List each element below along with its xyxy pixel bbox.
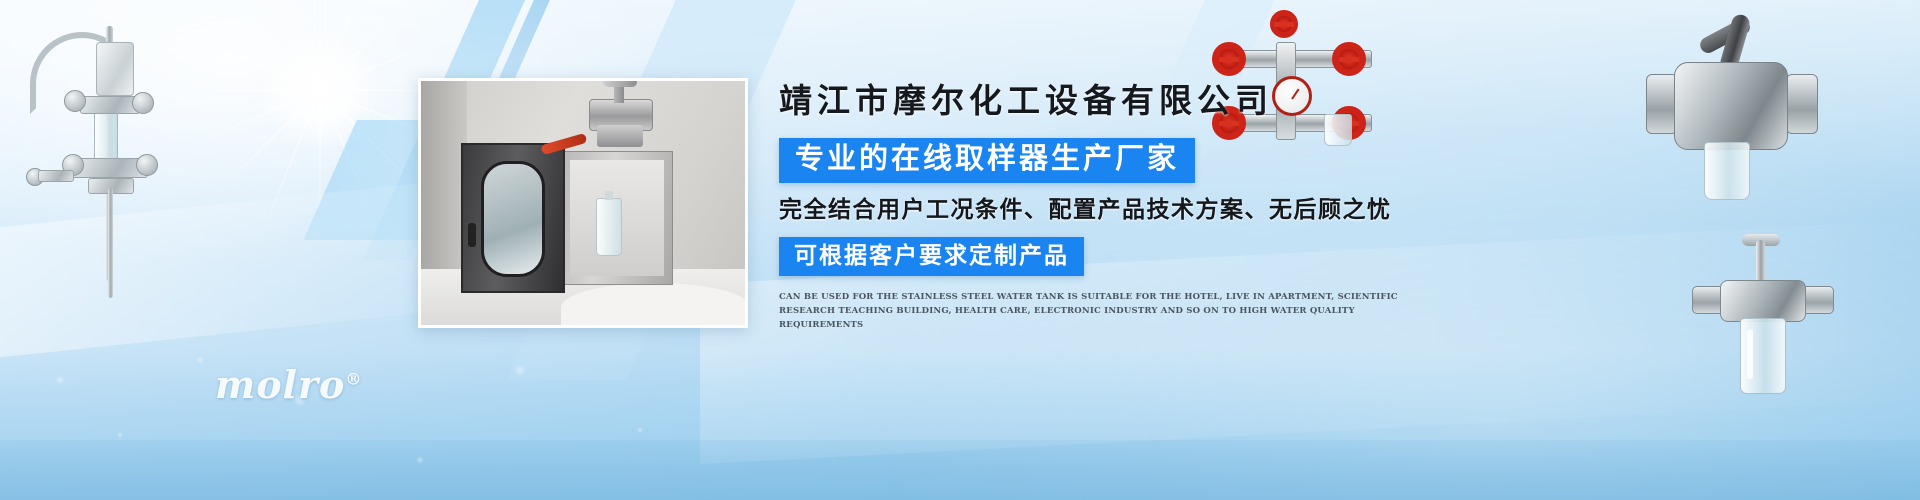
sampler-housing bbox=[96, 42, 134, 96]
cabinet-door bbox=[461, 143, 565, 293]
fitting-block bbox=[80, 96, 140, 114]
valve-knob bbox=[136, 154, 158, 176]
banner-text-block: 靖江市摩尔化工设备有限公司 专业的在线取样器生产厂家 完全结合用户工况条件、配置… bbox=[779, 80, 1879, 332]
red-handwheel bbox=[1212, 42, 1246, 76]
promotional-banner: 靖江市摩尔化工设备有限公司 专业的在线取样器生产厂家 完全结合用户工况条件、配置… bbox=[0, 0, 1920, 500]
valve-knob bbox=[603, 78, 637, 87]
secondary-tagline-badge: 可根据客户要求定制产品 bbox=[779, 237, 1084, 276]
secondary-flange bbox=[597, 125, 643, 147]
sample-bottle bbox=[94, 110, 118, 164]
fitting-block bbox=[38, 170, 74, 182]
left-equipment-illustration bbox=[10, 18, 170, 308]
water-droplets-decoration bbox=[0, 340, 760, 500]
watermark-text: molro bbox=[215, 362, 345, 407]
red-handwheel bbox=[1332, 42, 1366, 76]
english-caption: CAN BE USED FOR THE STAINLESS STEEL WATE… bbox=[779, 290, 1399, 332]
primary-tagline-badge: 专业的在线取样器生产厂家 bbox=[779, 138, 1195, 183]
subtitle-text: 完全结合用户工况条件、配置产品技术方案、无后顾之忧 bbox=[779, 198, 1879, 221]
product-photo bbox=[418, 78, 748, 328]
registered-mark: ® bbox=[345, 369, 362, 388]
company-title: 靖江市摩尔化工设备有限公司 bbox=[779, 80, 1879, 122]
sampler-cabinet-body bbox=[561, 151, 673, 285]
door-handle bbox=[468, 223, 476, 247]
brand-watermark: molro® bbox=[215, 362, 362, 407]
lower-probe bbox=[108, 188, 113, 298]
red-handwheel bbox=[1270, 10, 1298, 38]
valve-knob bbox=[132, 92, 154, 114]
door-window bbox=[481, 161, 545, 277]
valve-knob bbox=[64, 90, 86, 112]
sample-bottle bbox=[596, 198, 622, 256]
